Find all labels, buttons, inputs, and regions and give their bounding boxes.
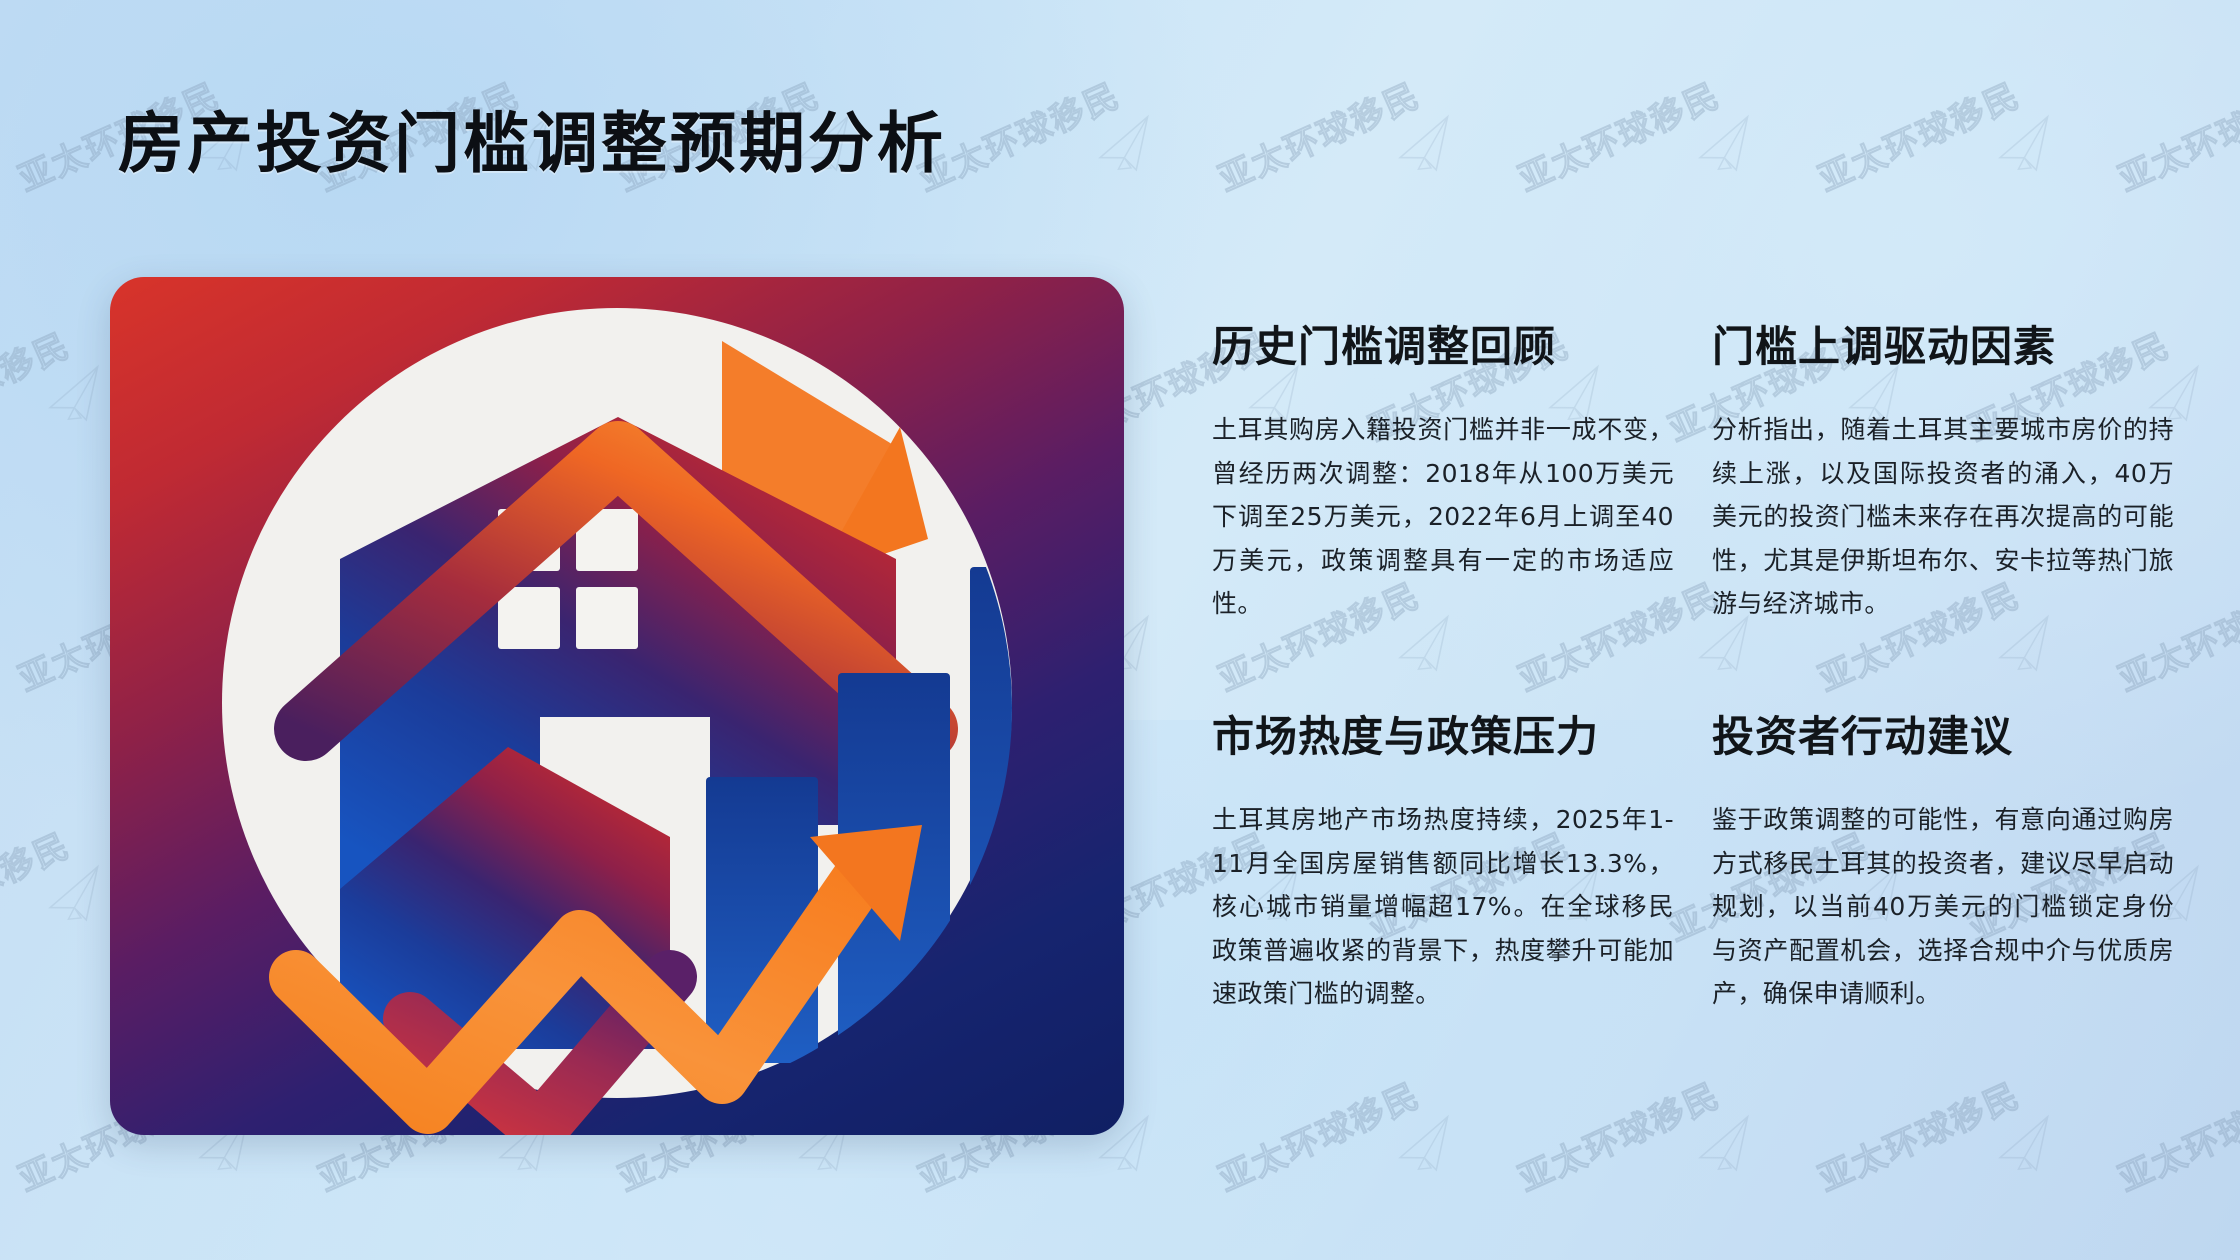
slide-root: 亚太环球移民亚太环球移民亚太环球移民亚太环球移民亚太环球移民亚太环球移民亚太环球… bbox=[0, 0, 2240, 1260]
content-sections: 历史门槛调整回顾 土耳其购房入籍投资门槛并非一成不变，曾经历两次调整：2018年… bbox=[1212, 322, 2192, 1016]
watermark-text: 亚太环球移民 bbox=[1809, 1068, 2026, 1201]
section-body: 土耳其购房入籍投资门槛并非一成不变，曾经历两次调整：2018年从100万美元下调… bbox=[1212, 408, 1674, 626]
watermark-text: 亚太环球移民 bbox=[1209, 1068, 1426, 1201]
section-raise-drivers: 门槛上调驱动因素 分析指出，随着土耳其主要城市房价的持续上涨，以及国际投资者的涌… bbox=[1712, 322, 2174, 626]
watermark-text: 亚太环球移民 bbox=[1209, 68, 1426, 201]
section-body: 分析指出，随着土耳其主要城市房价的持续上涨，以及国际投资者的涌入，40万美元的投… bbox=[1712, 408, 2174, 626]
watermark-text: 亚太环球移民 bbox=[0, 818, 77, 951]
watermark-text: 亚太环球移民 bbox=[1509, 1068, 1726, 1201]
paper-plane-icon bbox=[1389, 111, 1474, 191]
hero-artwork bbox=[110, 277, 1124, 1135]
paper-plane-icon bbox=[1989, 111, 2074, 191]
paper-plane-icon bbox=[1689, 1111, 1774, 1191]
section-body: 土耳其房地产市场热度持续，2025年1-11月全国房屋销售额同比增长13.3%，… bbox=[1212, 798, 1674, 1016]
section-title: 市场热度与政策压力 bbox=[1212, 712, 1674, 762]
paper-plane-icon bbox=[1389, 1111, 1474, 1191]
watermark-text: 亚太环球移民 bbox=[1509, 68, 1726, 201]
paper-plane-icon bbox=[1689, 111, 1774, 191]
hero-illustration-card bbox=[110, 277, 1124, 1135]
section-title: 门槛上调驱动因素 bbox=[1712, 322, 2174, 372]
section-title: 投资者行动建议 bbox=[1712, 712, 2174, 762]
section-title: 历史门槛调整回顾 bbox=[1212, 322, 1674, 372]
watermark-text: 亚太环球移民 bbox=[2109, 68, 2240, 201]
page-title: 房产投资门槛调整预期分析 bbox=[118, 108, 946, 179]
watermark-text: 亚太环球移民 bbox=[2109, 1068, 2240, 1201]
paper-plane-icon bbox=[1989, 1111, 2074, 1191]
section-investor-advice: 投资者行动建议 鉴于政策调整的可能性，有意向通过购房方式移民土耳其的投资者，建议… bbox=[1712, 712, 2174, 1016]
section-body: 鉴于政策调整的可能性，有意向通过购房方式移民土耳其的投资者，建议尽早启动规划，以… bbox=[1712, 798, 2174, 1016]
watermark-text: 亚太环球移民 bbox=[1809, 68, 2026, 201]
section-market-heat: 市场热度与政策压力 土耳其房地产市场热度持续，2025年1-11月全国房屋销售额… bbox=[1212, 712, 1674, 1016]
watermark-text: 亚太环球移民 bbox=[0, 318, 77, 451]
paper-plane-icon bbox=[1089, 111, 1174, 191]
section-history-review: 历史门槛调整回顾 土耳其购房入籍投资门槛并非一成不变，曾经历两次调整：2018年… bbox=[1212, 322, 1674, 626]
